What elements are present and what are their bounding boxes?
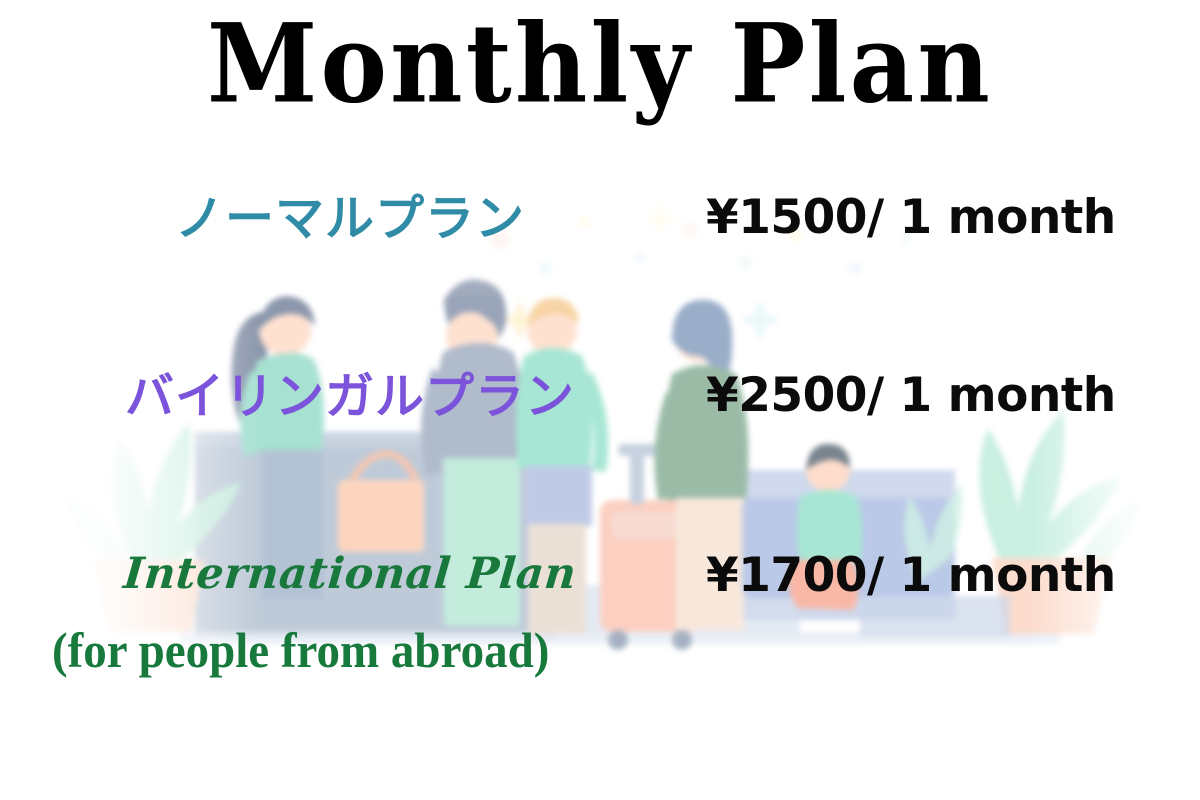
monthly-plan-poster: Monthly Plan ノーマルプラン ¥1500/ 1 month バイリン… [0, 0, 1200, 800]
plan-name-international: International Plan [28, 548, 673, 600]
plan-name-normal: ノーマルプラン [30, 190, 670, 248]
plan-note-international: (for people from abroad) [52, 620, 710, 680]
plan-row-normal: ノーマルプラン ¥1500/ 1 month [0, 190, 1200, 191]
page-title: Monthly Plan [0, 4, 1200, 125]
plan-name-bilingual: バイリンガルプラン [30, 368, 670, 426]
plan-price-bilingual: ¥2500/ 1 month [706, 368, 1176, 424]
plan-row-international: International Plan ¥1700/ 1 month [0, 548, 1200, 549]
plan-row-bilingual: バイリンガルプラン ¥2500/ 1 month [0, 368, 1200, 369]
plan-price-international: ¥1700/ 1 month [706, 548, 1176, 604]
plan-price-normal: ¥1500/ 1 month [706, 190, 1176, 246]
poster-content: Monthly Plan ノーマルプラン ¥1500/ 1 month バイリン… [0, 0, 1200, 800]
